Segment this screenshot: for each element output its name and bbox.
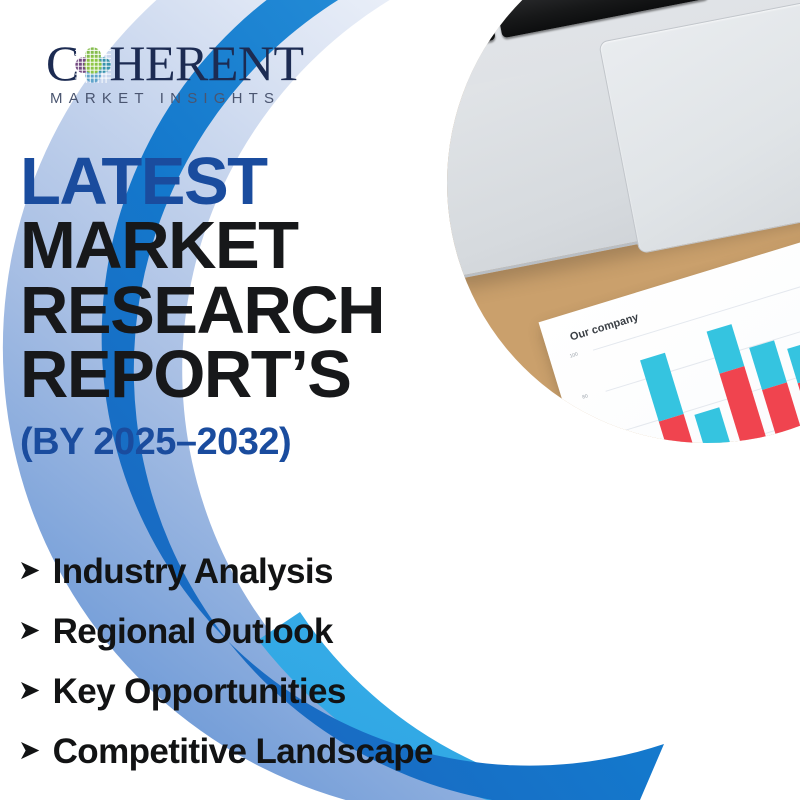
list-item-label: Industry Analysis <box>53 552 333 592</box>
list-item-label: Competitive Landscape <box>53 732 433 772</box>
logo-word-rest: HERENT <box>109 38 303 88</box>
key-command-left: ⌘ command <box>447 0 496 50</box>
logo-letter-c: C <box>46 38 78 88</box>
y-tick: 60 <box>594 435 601 442</box>
feature-list: ➤ Industry Analysis ➤ Regional Outlook ➤… <box>18 552 538 792</box>
headline-line-1: LATEST <box>20 150 440 214</box>
list-item: ➤ Regional Outlook <box>18 612 538 652</box>
command-icon: ⌘ <box>478 2 491 17</box>
headline-line-4: REPORT’S <box>20 343 440 407</box>
arrow-bullet-icon: ➤ <box>18 737 41 764</box>
y-tick: 100 <box>569 351 579 359</box>
headline-line-2: MARKET <box>20 214 440 278</box>
arrow-bullet-icon: ➤ <box>18 557 41 584</box>
logo-wordmark: C <box>46 38 304 88</box>
headline-line-3: RESEARCH <box>20 279 440 343</box>
photo-circle: ⌘ command V B N ⌘ command option <box>447 0 800 443</box>
list-item: ➤ Key Opportunities <box>18 672 538 712</box>
y-tick: 80 <box>582 394 589 401</box>
list-item-label: Regional Outlook <box>53 612 333 652</box>
key-label: command <box>457 27 495 43</box>
arrow-bullet-icon: ➤ <box>18 617 41 644</box>
arrow-bullet-icon: ➤ <box>18 677 41 704</box>
clover-globe-icon <box>75 47 111 83</box>
headline-block: LATEST MARKET RESEARCH REPORT’S (BY 2025… <box>20 150 440 464</box>
trackpad <box>598 0 800 254</box>
list-item-label: Key Opportunities <box>53 672 346 712</box>
promo-banner: ⌘ command V B N ⌘ command option <box>0 0 800 800</box>
headline-subtitle: (BY 2025–2032) <box>20 421 440 464</box>
list-item: ➤ Competitive Landscape <box>18 732 538 772</box>
list-item: ➤ Industry Analysis <box>18 552 538 592</box>
logo-tagline: MARKET INSIGHTS <box>46 90 304 107</box>
brand-logo[interactable]: C <box>46 38 304 107</box>
